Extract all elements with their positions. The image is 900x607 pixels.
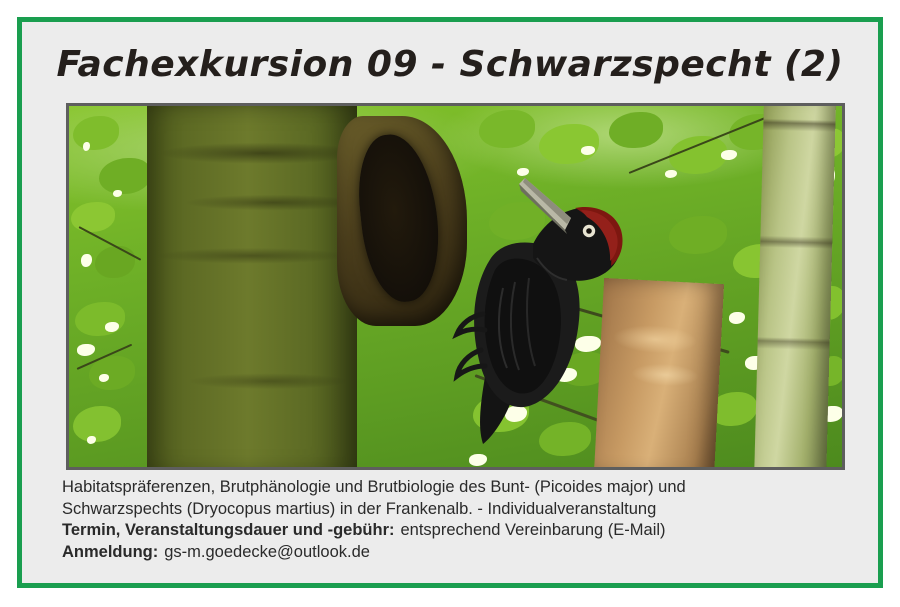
page-title: Fachexkursion 09 - Schwarzspecht (2) bbox=[22, 44, 878, 85]
poster-card: Fachexkursion 09 - Schwarzspecht (2) bbox=[17, 17, 883, 588]
caption-line-4: Anmeldung:gs-m.goedecke@outlook.de bbox=[62, 542, 852, 564]
termin-label: Termin, Veranstaltungsdauer und -gebühr: bbox=[62, 521, 394, 539]
caption-line-1: Habitatspräferenzen, Brutphänologie und … bbox=[62, 477, 852, 499]
anmeldung-label: Anmeldung: bbox=[62, 543, 158, 561]
anmeldung-email[interactable]: gs-m.goedecke@outlook.de bbox=[164, 543, 370, 561]
dead-pale-trunk bbox=[754, 103, 836, 470]
termin-value: entsprechend Vereinbarung (E-Mail) bbox=[400, 521, 665, 539]
photo-image bbox=[69, 106, 842, 467]
caption-line-2: Schwarzspechts (Dryocopus martius) in de… bbox=[62, 499, 852, 521]
photo-frame bbox=[66, 103, 845, 470]
caption-line-3: Termin, Veranstaltungsdauer und -gebühr:… bbox=[62, 520, 852, 542]
caption-block: Habitatspräferenzen, Brutphänologie und … bbox=[62, 477, 852, 563]
beech-trunk bbox=[147, 103, 357, 470]
black-woodpecker bbox=[399, 154, 699, 454]
